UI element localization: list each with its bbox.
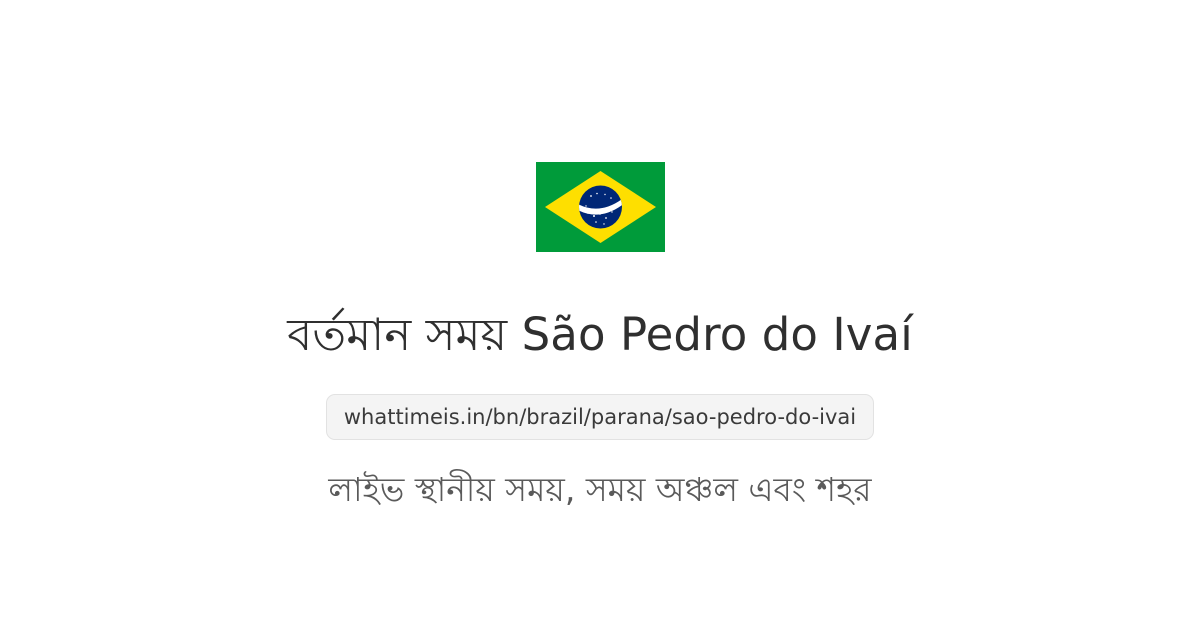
url-text: whattimeis.in/bn/brazil/parana/sao-pedro… [344,407,856,428]
url-pill[interactable]: whattimeis.in/bn/brazil/parana/sao-pedro… [326,394,874,440]
page-subtitle: লাইভ স্থানীয় সময়, সময় অঞ্চল এবং শহর [328,469,871,512]
preview-card: বর্তমান সময় São Pedro do Ivaí whattimei… [0,0,1200,630]
page-title: বর্তমান সময় São Pedro do Ivaí [287,307,913,363]
brazil-flag-icon [536,162,665,252]
